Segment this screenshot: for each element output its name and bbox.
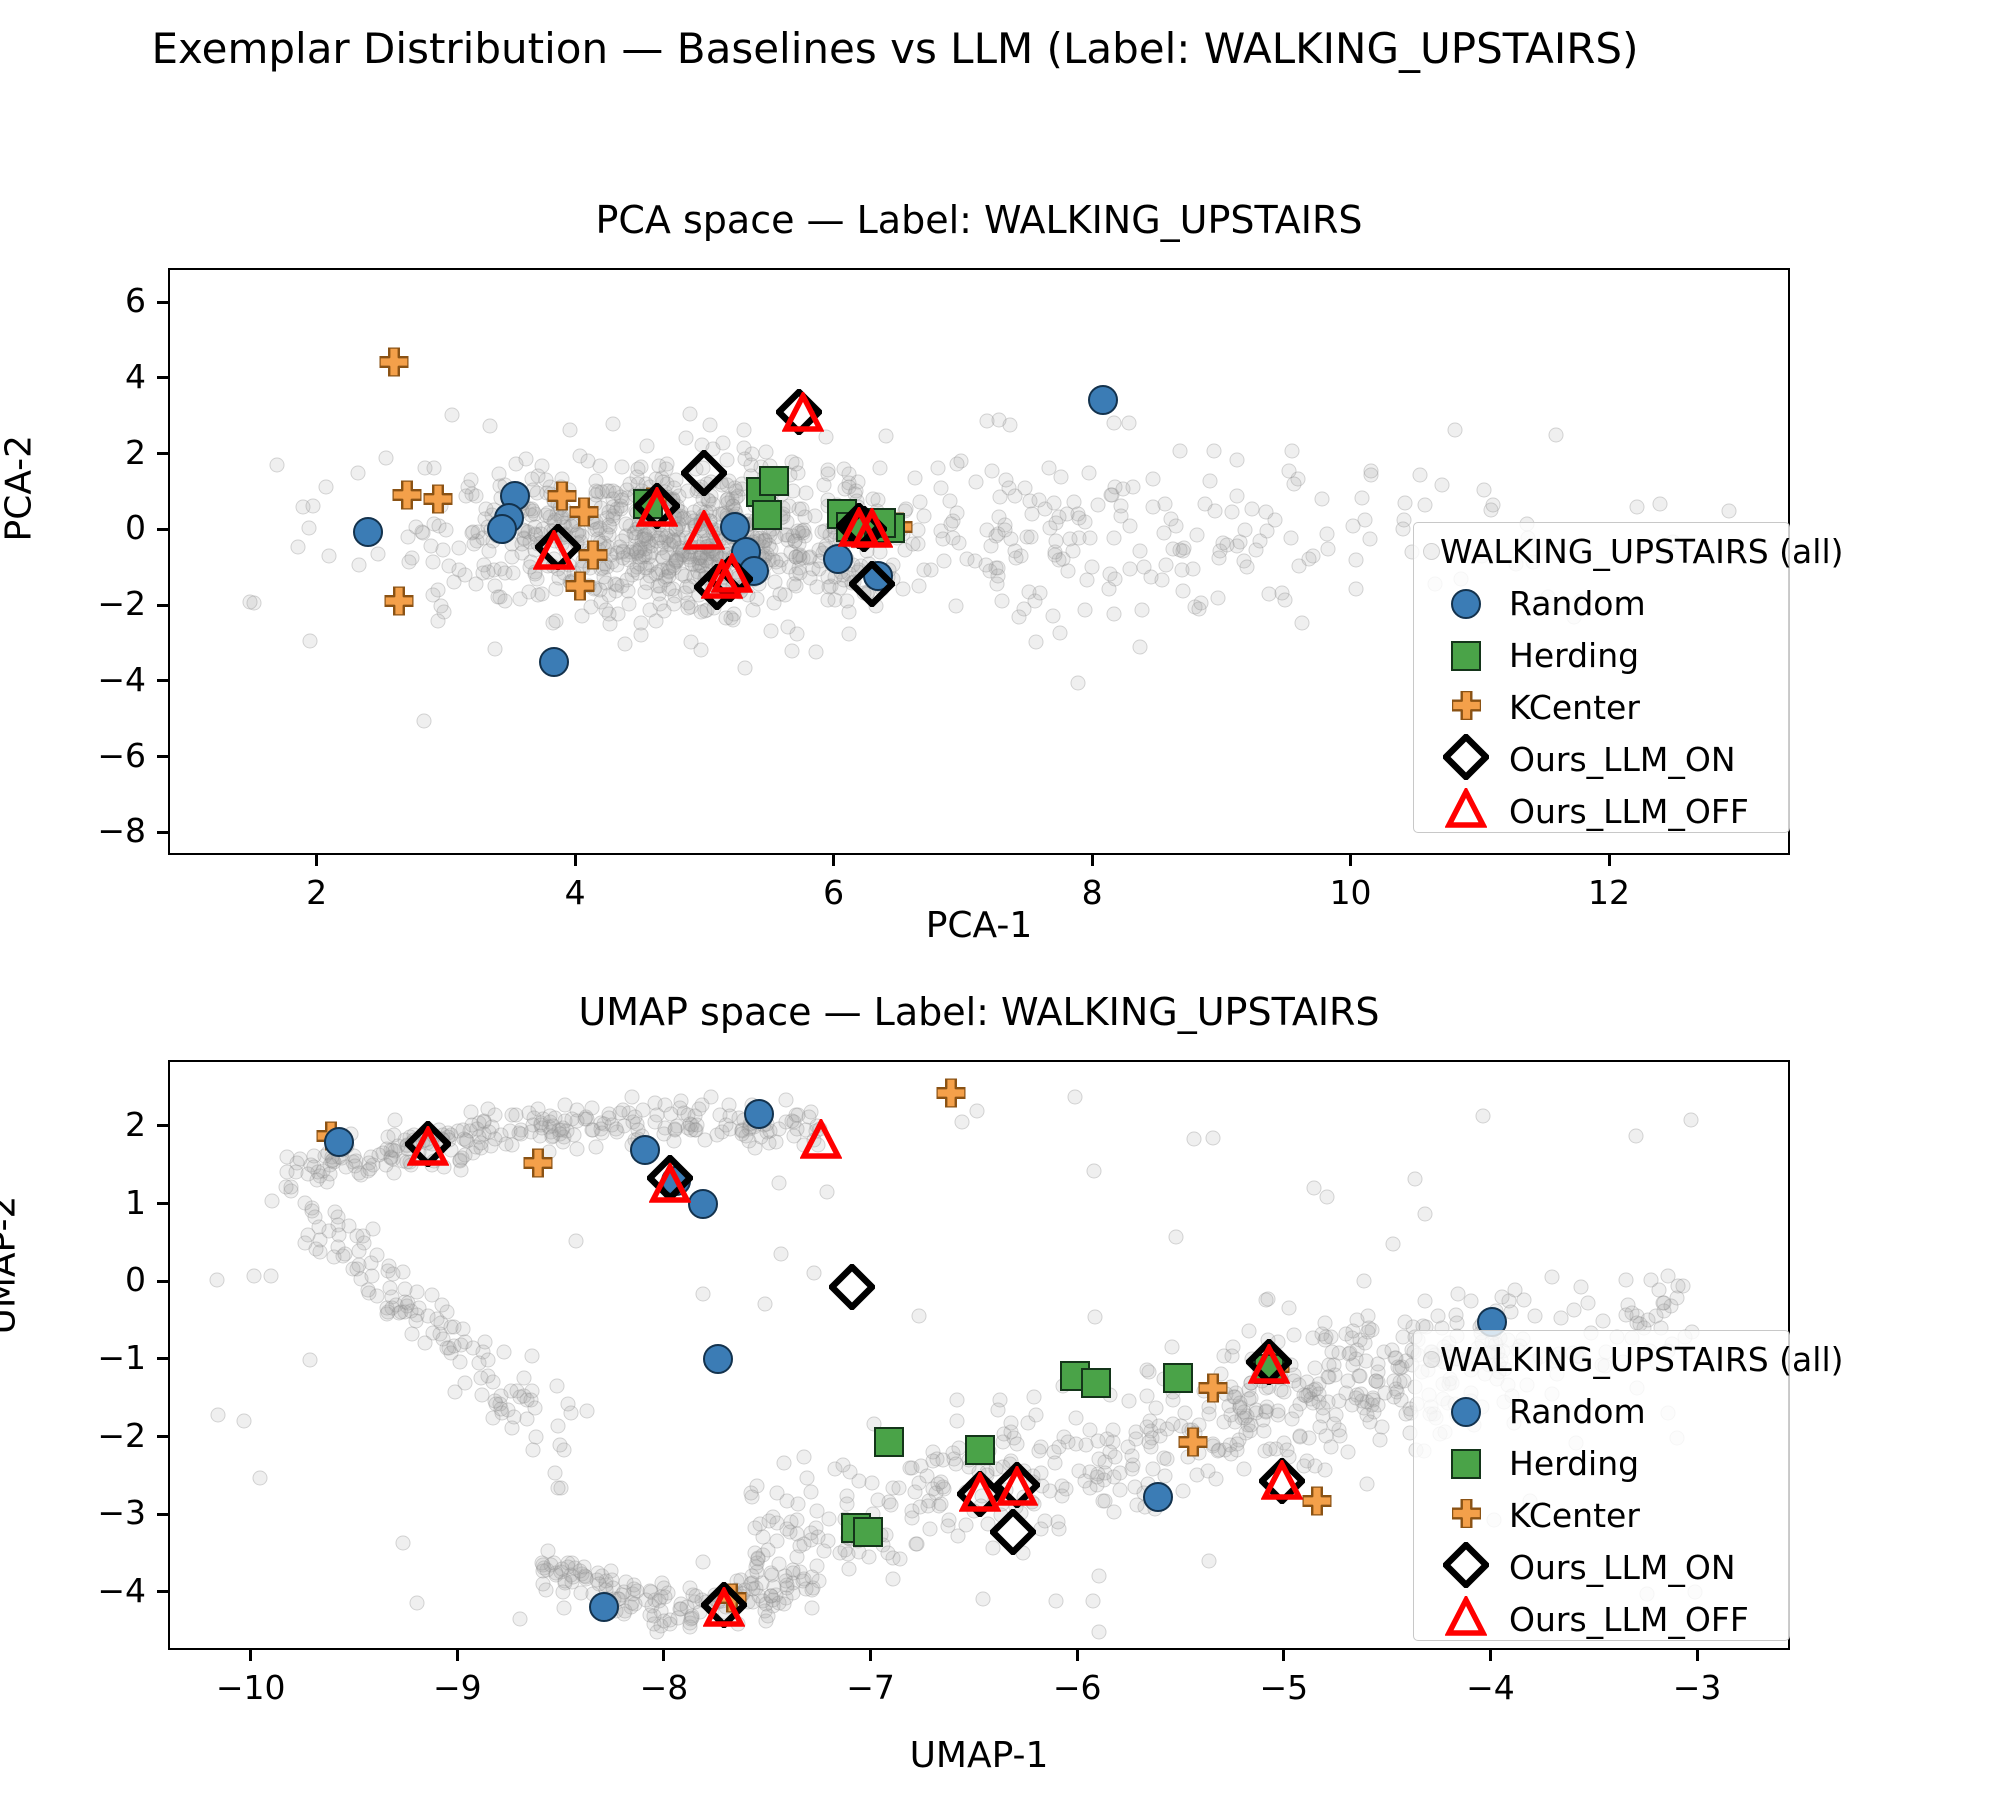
background-point — [974, 1488, 989, 1503]
background-point — [1348, 1390, 1363, 1405]
background-point — [1017, 601, 1032, 616]
background-point — [408, 520, 423, 535]
background-point — [499, 1137, 514, 1152]
background-point — [841, 567, 856, 582]
background-point — [1364, 463, 1379, 478]
pca-x-tick-mark — [1349, 855, 1352, 866]
background-point — [676, 1105, 691, 1120]
background-point — [945, 531, 960, 546]
background-point — [679, 431, 694, 446]
background-point — [1196, 1383, 1211, 1398]
background-point — [1291, 559, 1306, 574]
background-point — [936, 554, 951, 569]
background-point — [1152, 1418, 1167, 1433]
background-point — [1082, 1422, 1097, 1437]
background-point — [1340, 1374, 1355, 1389]
background-point — [618, 636, 633, 651]
background-point — [508, 1108, 523, 1123]
background-point — [1156, 1450, 1171, 1465]
background-point — [1566, 1303, 1581, 1318]
background-point — [1581, 1296, 1596, 1311]
umap-legend-item[interactable]: Ours_LLM_OFF — [1423, 1593, 1786, 1645]
background-point — [838, 1512, 853, 1527]
background-point — [577, 1111, 592, 1126]
pca-y-tick-mark — [157, 755, 168, 758]
background-point — [629, 559, 644, 574]
umap-legend-icon — [1423, 1596, 1509, 1642]
background-point — [487, 642, 502, 657]
background-point — [446, 574, 461, 589]
background-point — [1230, 452, 1245, 467]
background-point — [1168, 1230, 1183, 1245]
background-point — [1060, 1435, 1075, 1450]
background-point — [361, 1283, 376, 1298]
kcenter-marker — [379, 347, 408, 376]
background-point — [1190, 527, 1205, 542]
background-point — [1092, 1569, 1107, 1584]
umap-legend-item[interactable]: KCenter — [1423, 1490, 1786, 1542]
background-point — [789, 626, 804, 641]
background-point — [993, 1507, 1008, 1522]
pca-legend-icon — [1423, 734, 1509, 784]
background-point — [866, 491, 881, 506]
background-point — [352, 558, 367, 573]
background-point — [556, 487, 571, 502]
background-point — [346, 1261, 361, 1276]
background-point — [1031, 1444, 1046, 1459]
pca-y-tick-label: 4 — [0, 357, 146, 396]
umap-y-tick-label: −1 — [0, 1338, 146, 1377]
background-point — [558, 543, 573, 558]
background-point — [680, 596, 695, 611]
umap-x-tick-mark — [1282, 1650, 1285, 1661]
background-point — [546, 615, 561, 630]
background-point — [1244, 501, 1259, 516]
background-point — [417, 713, 432, 728]
background-point — [1122, 1394, 1137, 1409]
background-point — [487, 579, 502, 594]
background-point — [1208, 504, 1223, 519]
background-point — [1319, 526, 1334, 541]
background-point — [1301, 1430, 1316, 1445]
background-point — [1286, 1328, 1301, 1343]
background-point — [804, 1484, 819, 1499]
background-point — [812, 1121, 827, 1136]
background-point — [669, 551, 684, 566]
background-point — [1236, 1461, 1251, 1476]
background-point — [769, 1533, 784, 1548]
background-point — [1224, 1349, 1239, 1364]
background-point — [749, 592, 764, 607]
background-point — [1069, 1410, 1084, 1425]
background-point — [565, 574, 580, 589]
background-point — [954, 1115, 969, 1130]
background-point — [968, 553, 983, 568]
background-point — [912, 1309, 927, 1324]
pca-x-tick-label: 4 — [505, 873, 645, 912]
background-point — [689, 1123, 704, 1138]
background-point — [1573, 1280, 1588, 1295]
random-marker — [1088, 385, 1118, 415]
background-point — [539, 1583, 554, 1598]
pca-legend-item[interactable]: Ours_LLM_OFF — [1423, 785, 1786, 837]
background-point — [1315, 492, 1330, 507]
background-point — [1129, 1498, 1144, 1513]
pca-legend-item[interactable]: Random — [1423, 578, 1786, 630]
background-point — [433, 499, 448, 514]
circle-icon — [1451, 1397, 1481, 1427]
background-point — [1450, 1286, 1465, 1301]
background-dot-icon — [1423, 543, 1440, 560]
background-point — [799, 1122, 814, 1137]
background-point — [745, 573, 760, 588]
background-point — [867, 1417, 882, 1432]
background-point — [555, 1585, 570, 1600]
background-point — [1281, 1300, 1296, 1315]
background-point — [657, 1120, 672, 1135]
background-point — [1418, 1294, 1433, 1309]
umap-legend-icon — [1423, 1449, 1509, 1479]
background-point — [1671, 1279, 1686, 1294]
background-point — [797, 1138, 812, 1153]
background-point — [469, 576, 484, 591]
background-point — [592, 536, 607, 551]
background-dot-icon — [1423, 1351, 1440, 1368]
umap-y-tick-mark — [157, 1124, 168, 1127]
background-point — [1205, 1130, 1220, 1145]
background-point — [1133, 640, 1148, 655]
background-point — [544, 524, 559, 539]
background-point — [1080, 572, 1095, 587]
background-point — [1398, 495, 1413, 510]
background-point — [528, 567, 543, 582]
background-point — [1121, 416, 1136, 431]
background-point — [1237, 522, 1252, 537]
background-point — [331, 1209, 346, 1224]
background-point — [842, 627, 857, 642]
background-point — [1214, 1366, 1229, 1381]
background-point — [386, 1127, 401, 1142]
background-point — [806, 1265, 821, 1280]
background-point — [1056, 551, 1071, 566]
square-icon — [1451, 641, 1481, 671]
background-point — [765, 1509, 780, 1524]
background-point — [1360, 1407, 1375, 1422]
background-point — [885, 1481, 900, 1496]
background-point — [969, 1103, 984, 1118]
background-point — [789, 579, 804, 594]
ours-llm-on-marker — [829, 1264, 875, 1310]
background-point — [665, 494, 680, 509]
pca-x-tick-label: 10 — [1281, 873, 1421, 912]
background-point — [905, 1460, 920, 1475]
background-point — [1158, 557, 1173, 572]
plus-icon — [1452, 1499, 1481, 1532]
pca-legend-icon — [1423, 543, 1440, 560]
background-point — [899, 501, 914, 516]
background-point — [497, 594, 512, 609]
background-point — [889, 531, 904, 546]
background-point — [1241, 1323, 1256, 1338]
background-point — [668, 509, 683, 524]
kcenter-marker — [1302, 1486, 1331, 1515]
background-point — [630, 1122, 645, 1137]
background-point — [605, 512, 620, 527]
background-point — [1260, 1292, 1275, 1307]
background-point — [633, 460, 648, 475]
background-point — [380, 1304, 395, 1319]
background-point — [949, 1393, 964, 1408]
background-point — [455, 1150, 470, 1165]
background-point — [396, 1535, 411, 1550]
kcenter-marker — [937, 1079, 966, 1108]
background-point — [581, 453, 596, 468]
umap-y-tick-mark — [157, 1435, 168, 1438]
background-point — [1312, 1386, 1327, 1401]
pca-x-tick-mark — [1608, 855, 1611, 866]
kcenter-marker — [384, 587, 413, 616]
background-point — [1156, 525, 1171, 540]
background-point — [1048, 534, 1063, 549]
background-point — [872, 461, 887, 476]
background-point — [1017, 1489, 1032, 1504]
background-point — [841, 1530, 856, 1545]
background-point — [777, 1568, 792, 1583]
background-point — [779, 1093, 794, 1108]
background-point — [403, 1157, 418, 1172]
umap-y-tick-label: 2 — [0, 1105, 146, 1144]
background-point — [1395, 522, 1410, 537]
background-point — [729, 569, 744, 584]
background-point — [999, 473, 1014, 488]
background-point — [930, 461, 945, 476]
background-point — [525, 1443, 540, 1458]
background-point — [872, 544, 887, 559]
background-point — [1297, 1387, 1312, 1402]
background-point — [303, 1352, 318, 1367]
background-point — [767, 575, 782, 590]
background-point — [379, 450, 394, 465]
background-point — [297, 1236, 312, 1251]
background-point — [385, 1143, 400, 1158]
background-point — [959, 1518, 974, 1533]
background-point — [680, 484, 695, 499]
background-point — [940, 1519, 955, 1534]
background-point — [237, 1414, 252, 1429]
background-point — [1045, 608, 1060, 623]
background-point — [1359, 1476, 1374, 1491]
background-point — [554, 472, 569, 487]
background-point — [1068, 1089, 1083, 1104]
pca-legend-icon — [1423, 788, 1509, 834]
background-point — [1009, 551, 1024, 566]
background-point — [253, 1470, 268, 1485]
background-point — [958, 1484, 973, 1499]
background-point — [1079, 1438, 1094, 1453]
background-point — [1413, 468, 1428, 483]
background-point — [209, 1272, 224, 1287]
background-point — [1113, 498, 1128, 513]
background-point — [589, 1139, 604, 1154]
background-point — [1331, 1394, 1346, 1409]
background-point — [907, 1484, 922, 1499]
background-point — [704, 488, 719, 503]
umap-y-tick-mark — [157, 1590, 168, 1593]
background-point — [1048, 1456, 1063, 1471]
background-point — [569, 526, 584, 541]
background-point — [1284, 1411, 1299, 1426]
background-point — [1548, 427, 1563, 442]
umap-y-tick-label: −2 — [0, 1416, 146, 1455]
background-point — [991, 413, 1006, 428]
background-point — [830, 509, 845, 524]
pca-y-tick-mark — [157, 376, 168, 379]
background-point — [747, 1520, 762, 1535]
umap-legend-item[interactable]: Herding — [1423, 1438, 1786, 1490]
background-point — [1175, 562, 1190, 577]
background-point — [1026, 1390, 1041, 1405]
square-icon — [1451, 1449, 1481, 1479]
pca-x-tick-label: 8 — [1022, 873, 1162, 912]
background-point — [760, 499, 775, 514]
background-point — [752, 550, 767, 565]
background-point — [458, 489, 473, 504]
background-point — [1031, 492, 1046, 507]
background-point — [478, 502, 493, 517]
umap-legend-label: Ours_LLM_ON — [1509, 1551, 1736, 1584]
pca-legend-item[interactable]: KCenter — [1423, 682, 1786, 734]
background-point — [481, 543, 496, 558]
background-point — [988, 1462, 1003, 1477]
pca-y-tick-mark — [157, 831, 168, 834]
background-point — [912, 494, 927, 509]
pca-x-tick-mark — [832, 855, 835, 866]
background-point — [1244, 1375, 1259, 1390]
background-point — [590, 522, 605, 537]
background-point — [784, 644, 799, 659]
background-point — [1544, 1270, 1559, 1285]
background-point — [1504, 1305, 1519, 1320]
background-point — [297, 1196, 312, 1211]
background-point — [661, 581, 676, 596]
background-point — [467, 537, 482, 552]
background-point — [1190, 1467, 1205, 1482]
background-point — [984, 464, 999, 479]
umap-legend-item[interactable]: Ours_LLM_ON — [1423, 1541, 1786, 1593]
background-point — [424, 1136, 439, 1151]
background-point — [549, 582, 564, 597]
background-point — [1656, 1295, 1671, 1310]
background-point — [1091, 1625, 1106, 1640]
background-point — [771, 560, 786, 575]
background-point — [1476, 1108, 1491, 1123]
background-point — [474, 1388, 489, 1403]
pca-y-tick-mark — [157, 679, 168, 682]
background-point — [803, 571, 818, 586]
background-point — [1124, 1462, 1139, 1477]
pca-legend-item[interactable]: Herding — [1423, 630, 1786, 682]
background-point — [552, 1123, 567, 1138]
background-point — [1476, 482, 1491, 497]
background-point — [1295, 615, 1310, 630]
background-point — [792, 501, 807, 516]
background-point — [1077, 1473, 1092, 1488]
background-point — [518, 451, 533, 466]
background-point — [827, 592, 842, 607]
background-point — [525, 1349, 540, 1364]
umap-y-tick-label: −4 — [0, 1571, 146, 1610]
background-point — [246, 1269, 261, 1284]
background-point — [683, 1581, 698, 1596]
background-point — [388, 1112, 403, 1127]
background-point — [879, 428, 894, 443]
background-point — [308, 1210, 323, 1225]
background-point — [639, 439, 654, 454]
background-point — [1277, 592, 1292, 607]
background-point — [472, 1356, 487, 1371]
umap-subplot-title: UMAP space — Label: WALKING_UPSTAIRS — [168, 990, 1790, 1034]
umap-legend-label: WALKING_UPSTAIRS (all) — [1440, 1343, 1844, 1376]
background-point — [531, 536, 546, 551]
pca-legend-item[interactable]: WALKING_UPSTAIRS (all) — [1423, 526, 1786, 578]
background-point — [658, 461, 673, 476]
background-point — [1435, 477, 1450, 492]
background-point — [1316, 1401, 1331, 1416]
background-point — [547, 1465, 562, 1480]
umap-legend-label: Herding — [1509, 1447, 1639, 1480]
background-point — [985, 1541, 1000, 1556]
background-point — [1107, 572, 1122, 587]
pca-legend-icon — [1423, 691, 1509, 724]
background-point — [396, 1265, 411, 1280]
random-marker — [688, 1189, 718, 1219]
background-point — [715, 436, 730, 451]
background-point — [351, 466, 366, 481]
background-point — [989, 560, 1004, 575]
umap-legend-item[interactable]: WALKING_UPSTAIRS (all) — [1423, 1334, 1786, 1386]
background-point — [708, 592, 723, 607]
background-point — [1595, 1313, 1610, 1328]
figure-canvas: Exemplar Distribution — Baselines vs LLM… — [0, 0, 2000, 1800]
background-point — [409, 1314, 424, 1329]
background-point — [703, 558, 718, 573]
background-point — [1306, 1181, 1321, 1196]
umap-legend-item[interactable]: Random — [1423, 1386, 1786, 1438]
background-point — [446, 1338, 461, 1353]
background-point — [446, 1320, 461, 1335]
background-point — [211, 1408, 226, 1423]
background-point — [498, 565, 513, 580]
diamond-outline-icon — [1443, 1542, 1489, 1592]
background-point — [1319, 1190, 1334, 1205]
background-point — [1085, 1593, 1100, 1608]
background-point — [1048, 516, 1063, 531]
background-point — [1488, 1303, 1503, 1318]
background-point — [991, 1402, 1006, 1417]
background-point — [302, 633, 317, 648]
pca-legend-item[interactable]: Ours_LLM_ON — [1423, 733, 1786, 785]
background-point — [1448, 423, 1463, 438]
background-point — [1172, 444, 1187, 459]
pca-y-tick-mark — [157, 604, 168, 607]
background-point — [1090, 498, 1105, 513]
random-marker — [661, 1166, 691, 1196]
herding-marker — [874, 1427, 904, 1457]
background-point — [1063, 532, 1078, 547]
background-point — [1245, 1352, 1260, 1367]
background-point — [1203, 473, 1218, 488]
background-point — [1071, 676, 1086, 691]
